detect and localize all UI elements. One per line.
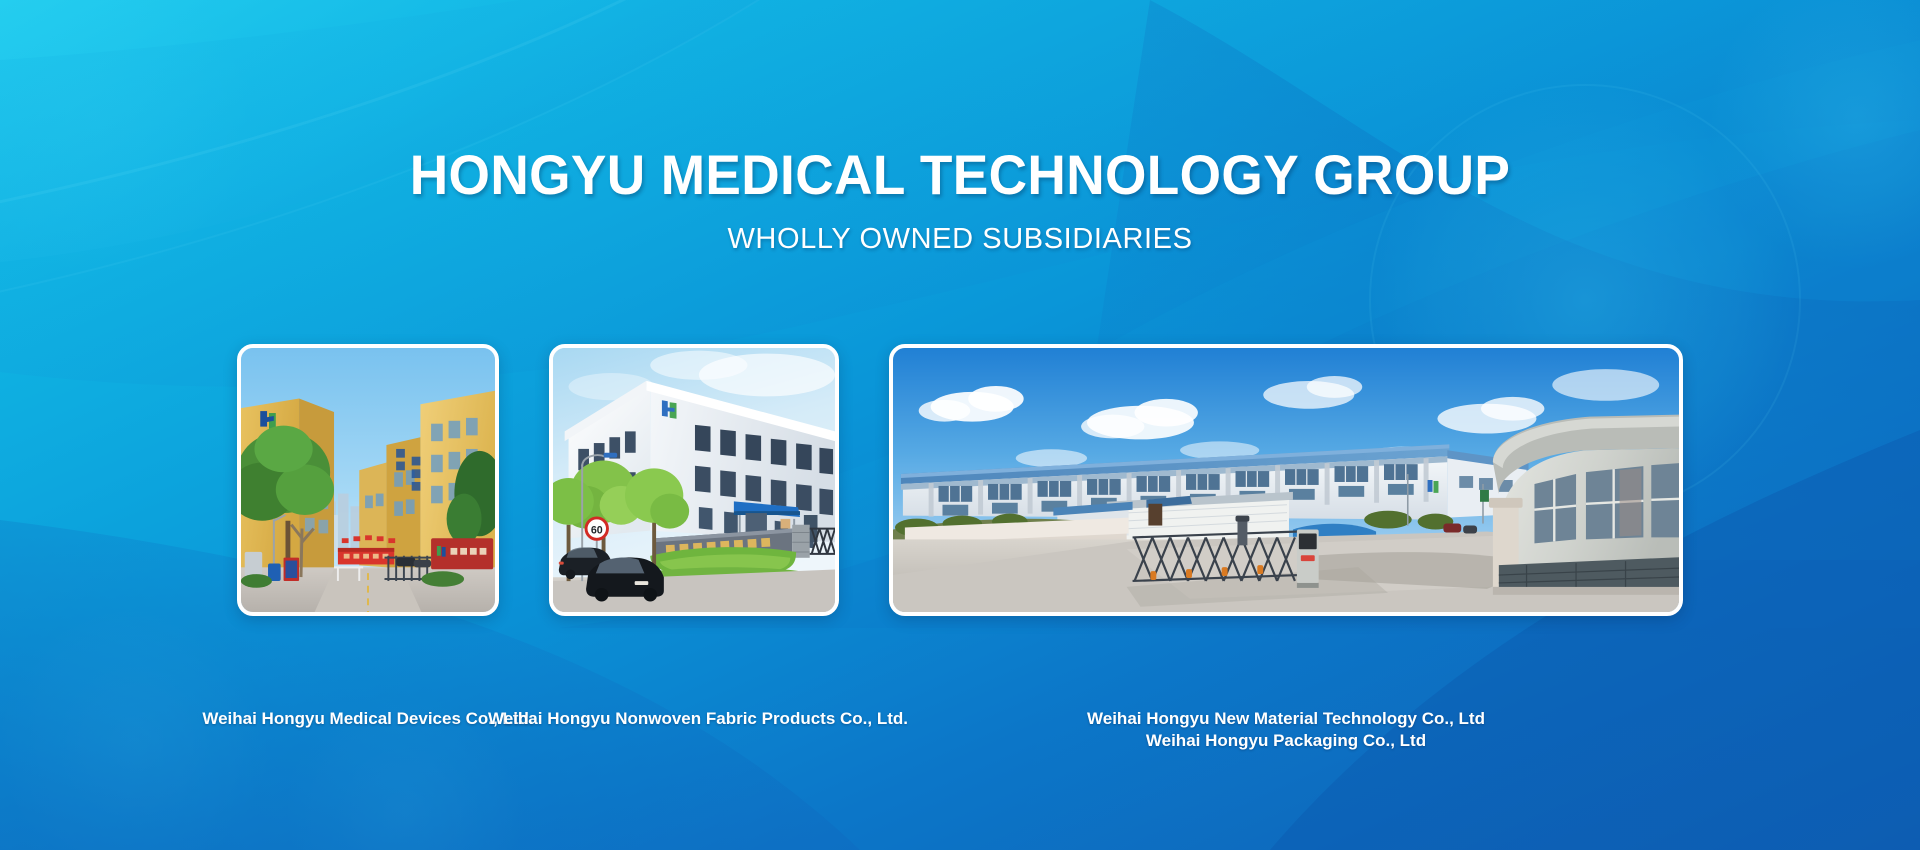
photo-nonwoven-fabric: 60 (553, 348, 835, 612)
caption-line: Weihai Hongyu Nonwoven Fabric Products C… (470, 708, 926, 730)
caption-line: Weihai Hongyu Packaging Co., Ltd (1058, 730, 1514, 752)
subsidiary-card-new-material-packaging[interactable] (889, 344, 1683, 616)
caption-new-material-packaging: Weihai Hongyu New Material Technology Co… (1058, 708, 1514, 752)
caption-line: Weihai Hongyu New Material Technology Co… (1058, 708, 1514, 730)
page-subtitle: WHOLLY OWNED SUBSIDIARIES (0, 223, 1920, 255)
headings-block: HONGYU MEDICAL TECHNOLOGY GROUP WHOLLY O… (0, 0, 1920, 255)
photo-new-material-packaging (893, 348, 1679, 612)
page-title: HONGYU MEDICAL TECHNOLOGY GROUP (48, 146, 1872, 204)
banner-root: HONGYU MEDICAL TECHNOLOGY GROUP WHOLLY O… (0, 0, 1920, 850)
photo-medical-devices (241, 348, 495, 612)
svg-text:60: 60 (591, 524, 603, 536)
subsidiary-card-medical-devices[interactable] (237, 344, 499, 616)
caption-nonwoven-fabric: Weihai Hongyu Nonwoven Fabric Products C… (470, 708, 926, 730)
subsidiary-card-nonwoven-fabric[interactable]: 60 (549, 344, 839, 616)
